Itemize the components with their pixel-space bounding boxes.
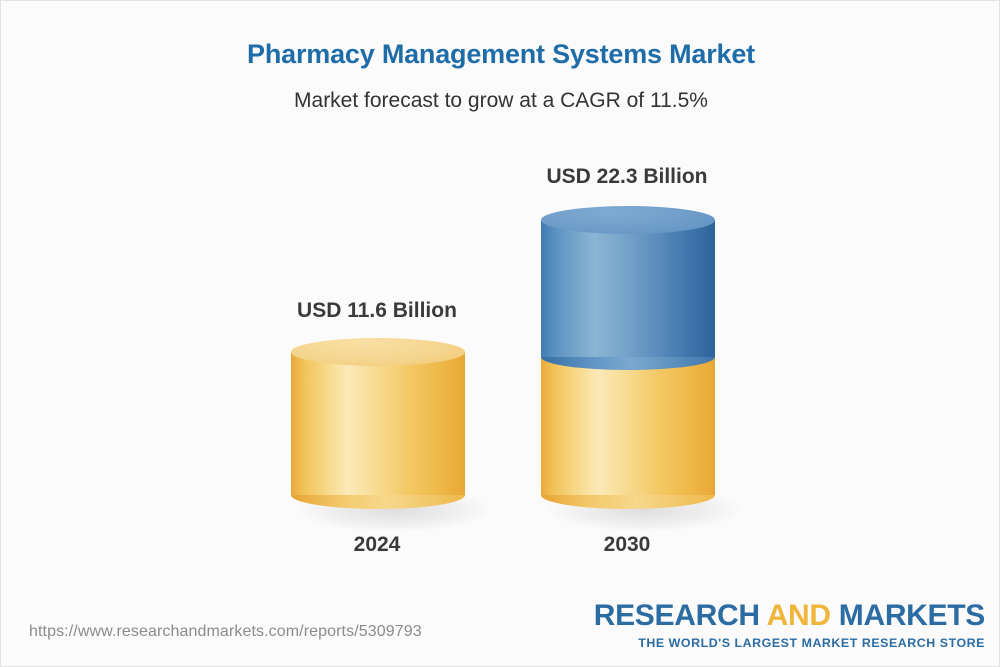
value-label-2030: USD 22.3 Billion — [529, 165, 725, 189]
chart-card: Pharmacy Management Systems Market Marke… — [0, 0, 1000, 667]
logo-text-research: RESEARCH — [594, 599, 767, 632]
bar-2030 — [541, 206, 715, 513]
logo-wordmark: RESEARCH AND MARKETS — [594, 601, 985, 631]
report-url[interactable]: https://www.researchandmarkets.com/repor… — [29, 623, 422, 641]
logo-text-markets: MARKETS — [839, 599, 985, 632]
bar-2024-body — [291, 352, 465, 495]
bar-2024-top-cap — [291, 338, 465, 366]
year-label-2030: 2030 — [529, 533, 725, 557]
bar-2030-top-cap — [541, 206, 715, 234]
page-subtitle: Market forecast to grow at a CAGR of 11.… — [1, 89, 1000, 113]
logo-tagline: THE WORLD'S LARGEST MARKET RESEARCH STOR… — [594, 637, 985, 649]
logo-text-and: AND — [767, 599, 839, 632]
bar-2024 — [291, 338, 465, 513]
bar-2030-blue-body — [541, 220, 715, 357]
year-label-2024: 2024 — [277, 533, 477, 557]
value-label-2024: USD 11.6 Billion — [277, 299, 477, 323]
research-and-markets-logo[interactable]: RESEARCH AND MARKETS THE WORLD'S LARGEST… — [594, 601, 985, 649]
page-title: Pharmacy Management Systems Market — [1, 39, 1000, 70]
